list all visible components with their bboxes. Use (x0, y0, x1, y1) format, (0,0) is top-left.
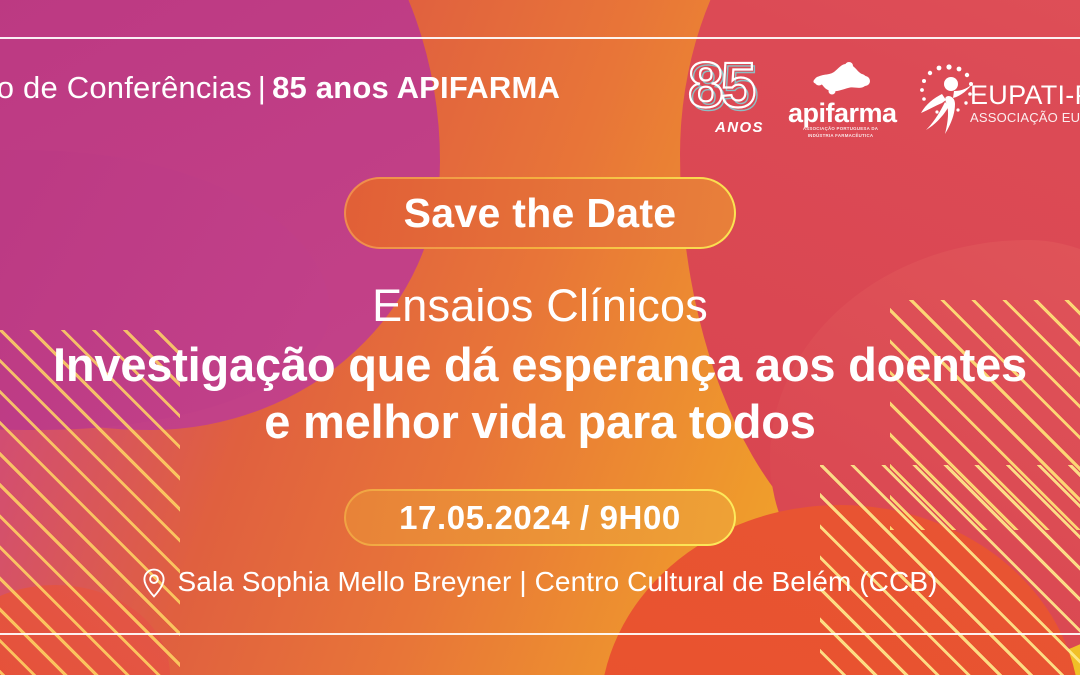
event-date-badge: 17.05.2024 / 9H00 (344, 489, 736, 546)
divider-top (0, 37, 1080, 39)
anniversary-digits: 85 (688, 53, 753, 117)
eupati-subtitle: ASSOCIAÇÃO EUPATI PO (970, 110, 1080, 125)
series-title: clo de Conferências|85 anos APIFARMA (0, 70, 560, 106)
location-pin-icon (142, 568, 166, 598)
apifarma-tagline: ASSOCIAÇÃO PORTUGUESA DA INDÚSTRIA FARMA… (788, 126, 893, 139)
apifarma-wordmark: apifarma (788, 98, 893, 129)
series-title-bold: 85 anos APIFARMA (272, 70, 560, 105)
event-venue: Sala Sophia Mello Breyner | Centro Cultu… (0, 566, 1080, 598)
apifarma-logo: apifarma ASSOCIAÇÃO PORTUGUESA DA INDÚST… (788, 60, 893, 145)
event-headline-line1: Investigação que dá esperança aos doente… (53, 338, 1027, 391)
event-banner: clo de Conferências|85 anos APIFARMA 85 … (0, 0, 1080, 675)
apifarma-tagline-line2: INDÚSTRIA FARMACÊUTICA (808, 133, 874, 138)
anniversary-85-logo: 85 85 ANOS (688, 57, 778, 147)
event-subtitle: Ensaios Clínicos (0, 280, 1080, 332)
eupati-name: EUPATI-PT (970, 80, 1080, 111)
molecule-icon (810, 60, 872, 101)
anniversary-label: ANOS (715, 119, 764, 136)
save-the-date-badge: Save the Date (344, 177, 736, 249)
event-date-label: 17.05.2024 / 9H00 (346, 491, 734, 544)
event-venue-text: Sala Sophia Mello Breyner | Centro Cultu… (177, 566, 937, 598)
save-the-date-label: Save the Date (346, 179, 734, 247)
event-headline-line2: e melhor vida para todos (0, 393, 1080, 450)
series-title-light: clo de Conferências (0, 70, 252, 105)
event-headline: Investigação que dá esperança aos doente… (0, 336, 1080, 451)
eupati-logo: EUPATI-PT ASSOCIAÇÃO EUPATI PO (912, 58, 1080, 150)
divider-bottom (0, 633, 1080, 635)
series-title-separator: | (252, 70, 272, 105)
apifarma-tagline-line1: ASSOCIAÇÃO PORTUGUESA DA (803, 126, 878, 131)
